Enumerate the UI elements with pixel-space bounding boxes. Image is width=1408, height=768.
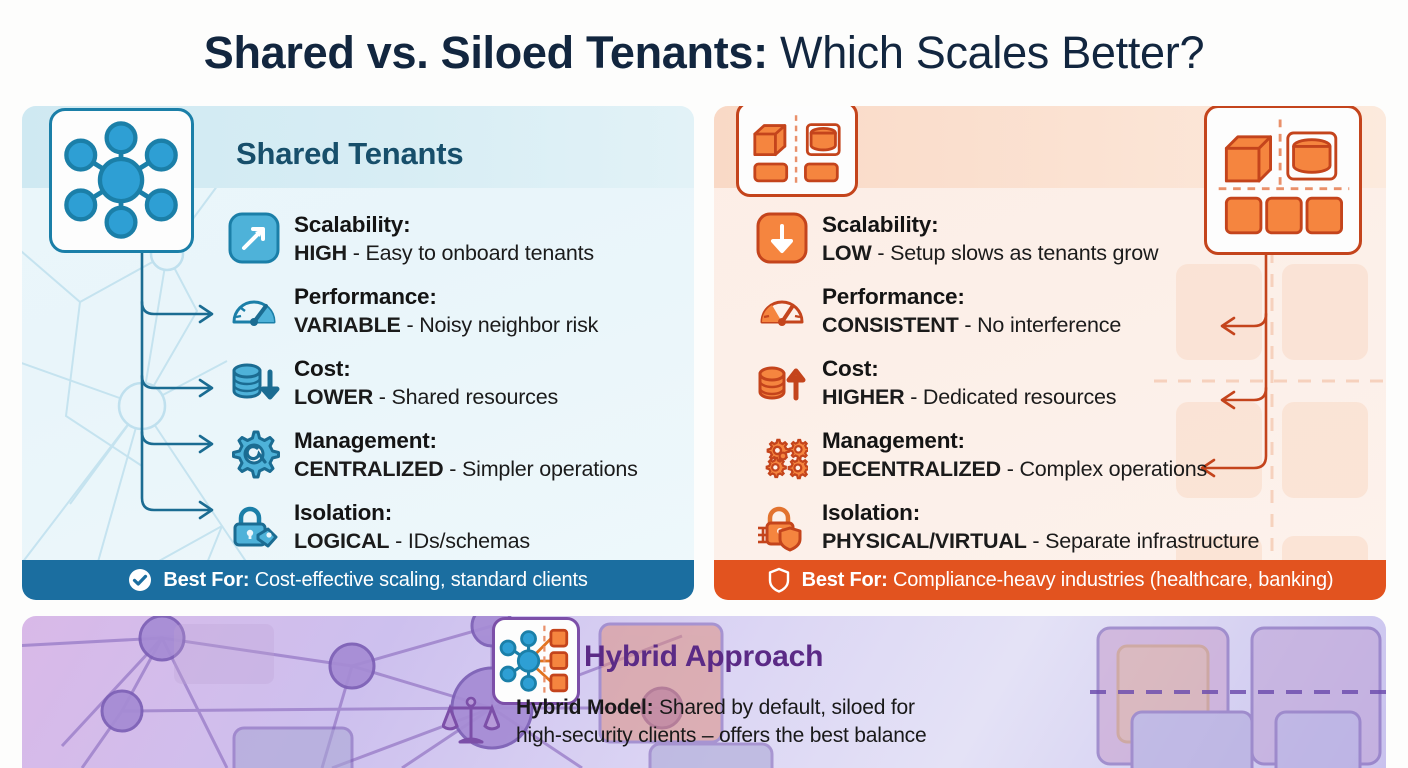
siloed-row-isolation: Isolation: PHYSICAL/VIRTUAL - Separate i… [756,498,1259,555]
page-title-light: Which Scales Better? [768,27,1204,78]
shared-row-cost: Cost: LOWER - Shared resources [228,354,558,411]
hybrid-network-grid-icon [492,617,580,705]
row-label: Performance: [294,283,598,311]
shared-best-for-text: Best For: Cost-effective scaling, standa… [163,569,587,592]
siloed-row-scalability: Scalability: LOW - Setup slows as tenant… [756,210,1158,267]
database-down-arrow-icon [228,356,280,408]
siloed-best-for-text: Best For: Compliance-heavy industries (h… [802,569,1334,592]
hybrid-model-text: Hybrid Model: Shared by default, siloed … [516,694,1076,750]
shared-row-performance: Performance: VARIABLE - Noisy neighbor r… [228,282,598,339]
arrow-down-icon [756,212,808,264]
hybrid-heading: Hybrid Approach [584,640,823,674]
infographic-page: Shared vs. Siloed Tenants: Which Scales … [0,0,1408,768]
database-up-arrow-icon [756,356,808,408]
siloed-grid-icon [736,106,858,197]
row-label: Cost: [822,355,1116,383]
row-label: Scalability: [822,211,1158,239]
shared-card-heading: Shared Tenants [236,136,463,172]
row-value: CENTRALIZED - Simpler operations [294,455,638,483]
siloed-row-performance: Performance: CONSISTENT - No interferenc… [756,282,1121,339]
hub-network-icon [49,108,194,253]
row-label: Cost: [294,355,558,383]
row-value: LOGICAL - IDs/schemas [294,527,530,555]
row-label: Scalability: [294,211,594,239]
gauge-icon [228,284,280,336]
shared-best-for-bar: Best For: Cost-effective scaling, standa… [22,560,694,600]
lock-tag-icon [228,500,280,552]
row-label: Isolation: [294,499,530,527]
page-title: Shared vs. Siloed Tenants: Which Scales … [0,22,1408,84]
siloed-tenants-card: Siloed Tenants [714,106,1386,600]
row-value: HIGH - Easy to onboard tenants [294,239,594,267]
balance-scales-icon [442,692,500,750]
multi-gears-icon [756,428,808,480]
row-value: PHYSICAL/VIRTUAL - Separate infrastructu… [822,527,1259,555]
shared-row-scalability: Scalability: HIGH - Easy to onboard tena… [228,210,594,267]
row-value: VARIABLE - Noisy neighbor risk [294,311,598,339]
row-value: DECENTRALIZED - Complex operations [822,455,1207,483]
row-value: CONSISTENT - No interference [822,311,1121,339]
gear-wrench-icon [228,428,280,480]
row-value: LOWER - Shared resources [294,383,558,411]
row-label: Performance: [822,283,1121,311]
siloed-row-cost: Cost: HIGHER - Dedicated resources [756,354,1116,411]
siloed-best-for-bar: Best For: Compliance-heavy industries (h… [714,560,1386,600]
arrow-up-right-icon [228,212,280,264]
row-value: LOW - Setup slows as tenants grow [822,239,1158,267]
siloed-infrastructure-icon [1204,106,1362,255]
siloed-row-management: Management: DECENTRALIZED - Complex oper… [756,426,1207,483]
check-circle-icon [128,568,152,592]
gauge-icon [756,284,808,336]
shield-icon [767,567,791,593]
row-label: Management: [822,427,1207,455]
row-value: HIGHER - Dedicated resources [822,383,1116,411]
shared-tenants-card: Shared Tenants [22,106,694,600]
page-title-strong: Shared vs. Siloed Tenants: [204,27,768,78]
row-label: Isolation: [822,499,1259,527]
shared-row-isolation: Isolation: LOGICAL - IDs/schemas [228,498,530,555]
shared-row-management: Management: CENTRALIZED - Simpler operat… [228,426,638,483]
row-label: Management: [294,427,638,455]
lock-shield-icon [756,500,808,552]
